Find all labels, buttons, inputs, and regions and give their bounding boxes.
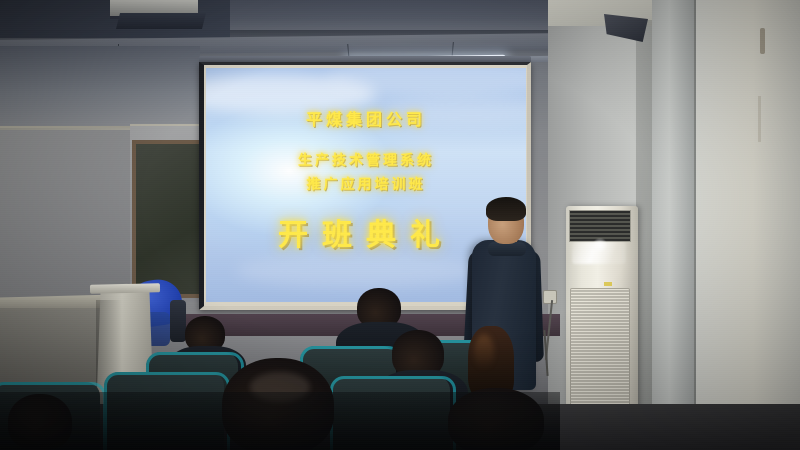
projector-mount-icon [116,13,206,29]
hair-highlight [474,334,494,370]
lectern-top [90,283,160,293]
slide-line-course: 推广应用培训班 [206,174,526,194]
wall-mark [760,28,765,54]
air-conditioner-badge [604,282,612,286]
air-conditioner-grille [570,288,630,420]
photograph: 平煤集团公司 生产技术管理系统 推广应用培训班 开班典礼 [0,0,800,450]
wall-mark [758,96,761,142]
slide-line-company: 平煤集团公司 [206,106,526,130]
slide-line-system: 生产技术管理系统 [206,150,526,170]
pillar-outer [696,0,800,450]
classroom-scene: 平煤集团公司 生产技术管理系统 推广应用培训班 开班典礼 [0,0,800,450]
presenter-collar [488,242,526,256]
air-conditioner-highlight [592,238,608,252]
left-wall-panel [0,128,144,302]
foreground-shadow [0,392,560,450]
dark-equipment [170,300,186,342]
pillar-inner [652,0,696,450]
presenter-hair [486,197,526,221]
left-upper-wall [0,46,200,132]
